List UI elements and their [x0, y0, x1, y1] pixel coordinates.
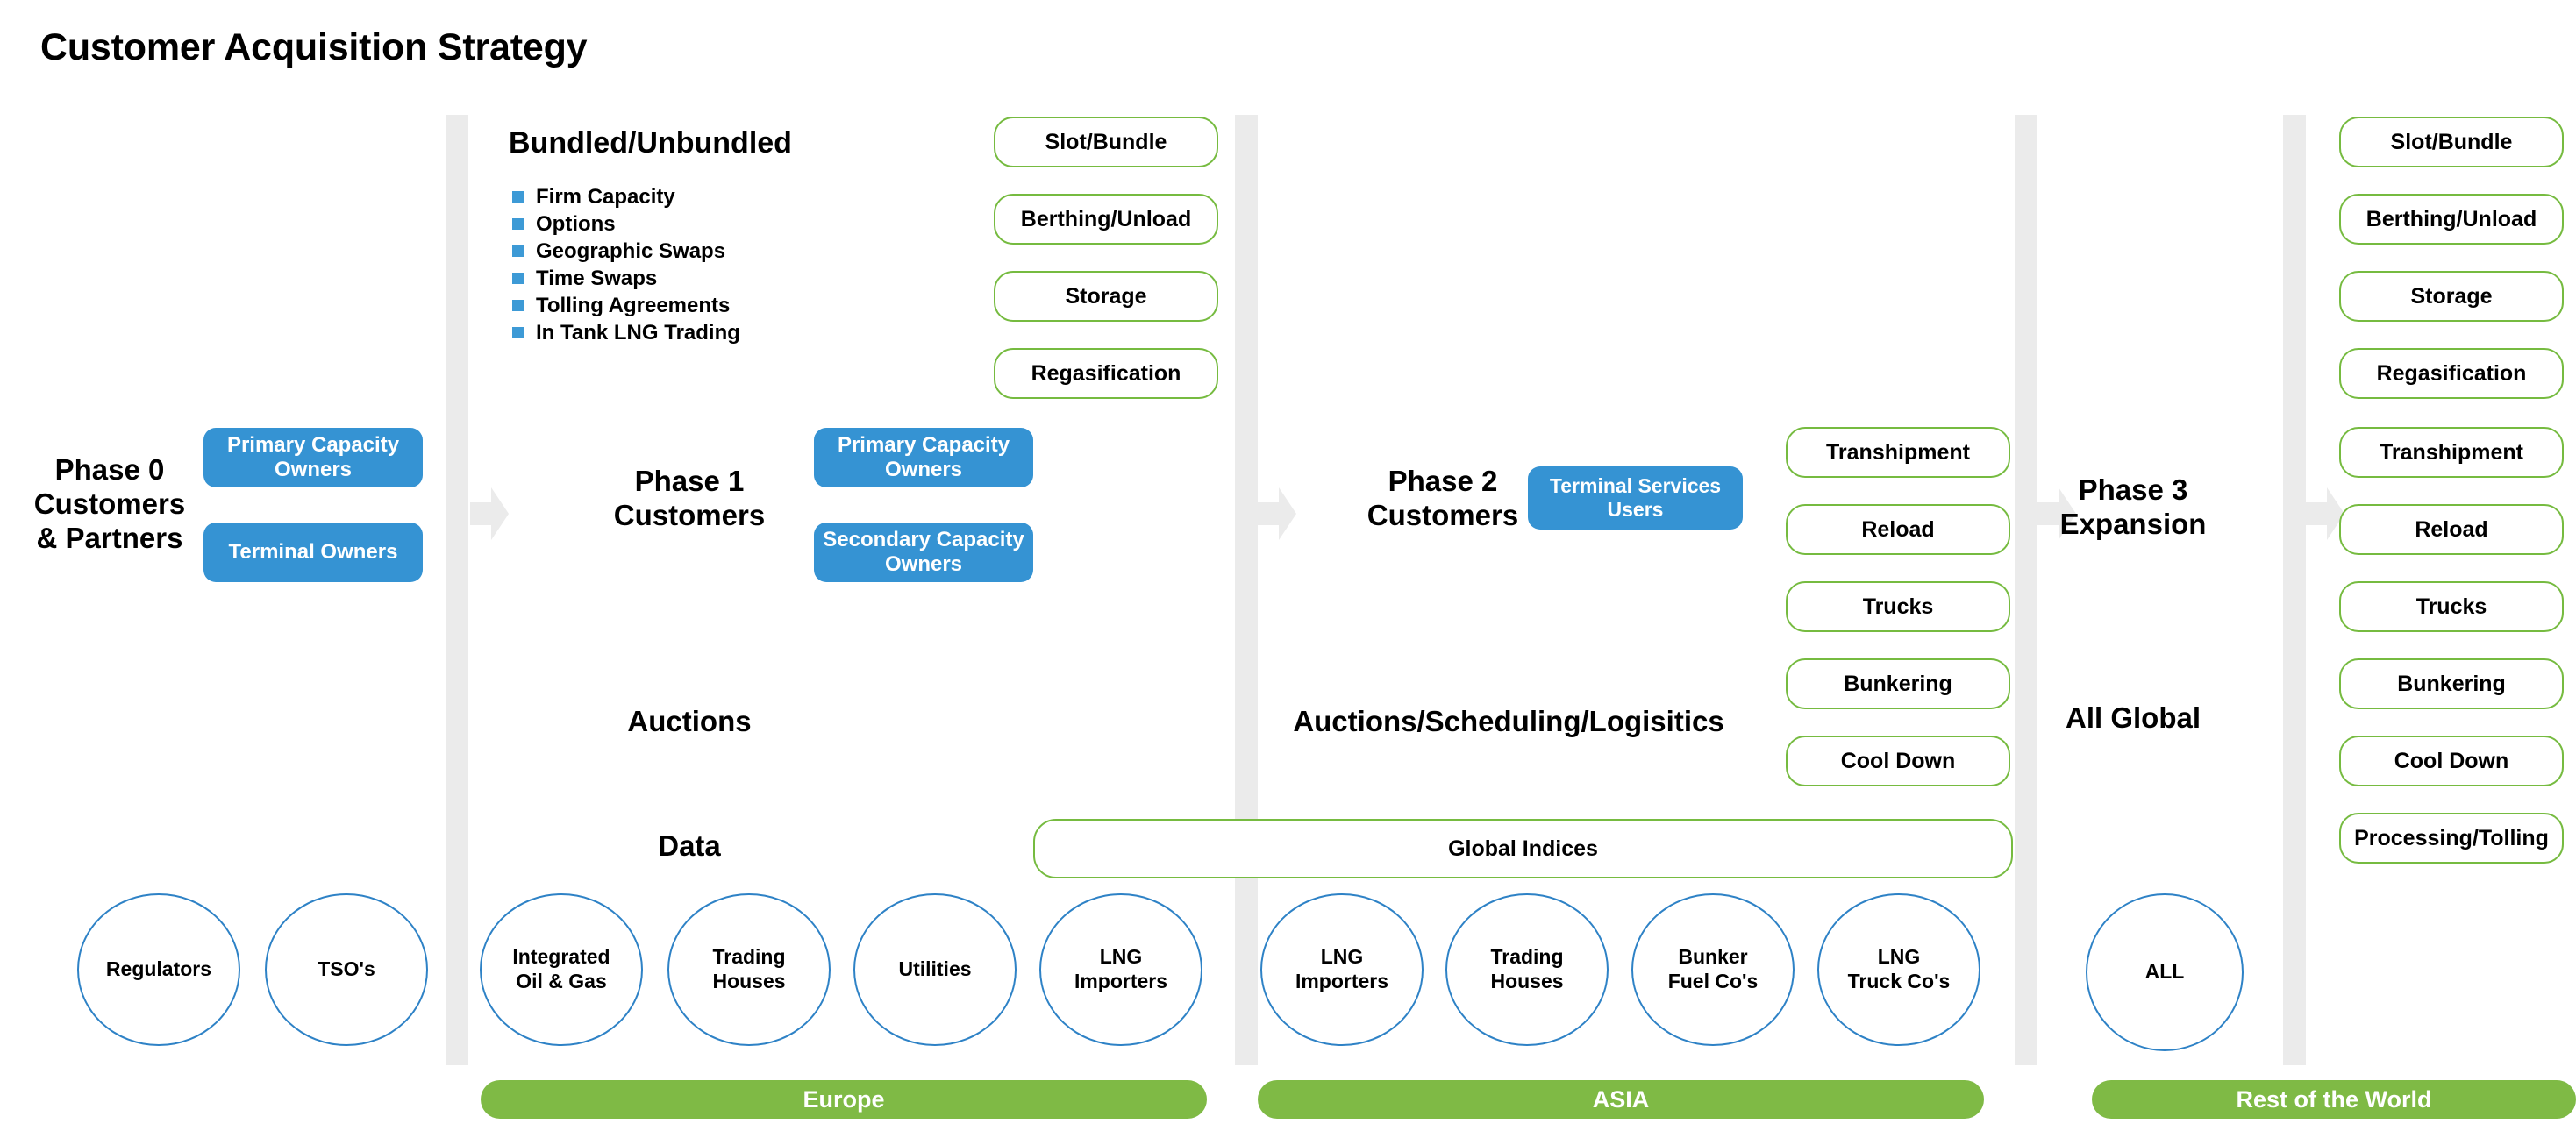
customer-box-secondary-capacity-owners[interactable]: Secondary Capacity Owners [814, 523, 1033, 582]
service-pill-cool-down[interactable]: Cool Down [1786, 736, 2010, 786]
service-pill-regasification[interactable]: Regasification [994, 348, 1218, 399]
service-pill-storage[interactable]: Storage [994, 271, 1218, 322]
process-label-all-global: All Global [2009, 701, 2258, 735]
customer-circle-regulators[interactable]: Regulators [77, 893, 240, 1046]
customer-circle-trading-houses-asia[interactable]: Trading Houses [1445, 893, 1609, 1046]
divider-phase0-phase1 [446, 115, 468, 1065]
service-pill-berthing-unload[interactable]: Berthing/Unload [994, 194, 1218, 245]
service-pill-bunkering[interactable]: Bunkering [1786, 658, 2010, 709]
global-service-pill-berthing-unload[interactable]: Berthing/Unload [2339, 194, 2564, 245]
customer-circle-trading-houses-eu[interactable]: Trading Houses [667, 893, 831, 1046]
region-banner-rest-of-the-world: Rest of the World [2092, 1080, 2576, 1119]
customer-box-primary-capacity-owners[interactable]: Primary Capacity Owners [203, 428, 423, 487]
page-title: Customer Acquisition Strategy [40, 26, 587, 69]
process-label-auctions-scheduling-logistics: Auctions/Scheduling/Logisitics [1274, 705, 1744, 738]
bullet-square-icon [512, 191, 524, 203]
customer-circle-lng-truck-cos[interactable]: LNG Truck Co's [1817, 893, 1980, 1046]
service-pill-slot-bundle[interactable]: Slot/Bundle [994, 117, 1218, 167]
service-pill-transhipment[interactable]: Transhipment [1786, 427, 2010, 478]
customer-box-terminal-owners[interactable]: Terminal Owners [203, 523, 423, 582]
list-item-label: Tolling Agreements [536, 294, 730, 318]
global-service-pill-transhipment[interactable]: Transhipment [2339, 427, 2564, 478]
bullet-square-icon [512, 245, 524, 257]
list-item: Geographic Swaps [512, 240, 740, 262]
list-item: Time Swaps [512, 267, 740, 289]
region-banner-asia: ASIA [1258, 1080, 1984, 1119]
phase-label-phase1: Phase 1 Customers [589, 465, 789, 533]
global-service-pill-processing-tolling[interactable]: Processing/Tolling [2339, 813, 2564, 864]
bundled-unbundled-list: Firm Capacity Options Geographic Swaps T… [512, 186, 740, 349]
global-service-pill-reload[interactable]: Reload [2339, 504, 2564, 555]
phase-label-phase2: Phase 2 Customers [1343, 465, 1543, 533]
bullet-square-icon [512, 218, 524, 230]
service-pill-trucks[interactable]: Trucks [1786, 581, 2010, 632]
bullet-square-icon [512, 300, 524, 311]
process-label-data: Data [589, 829, 789, 863]
list-item: Firm Capacity [512, 186, 740, 208]
phase-label-phase0: Phase 0 Customers & Partners [18, 453, 202, 556]
customer-circle-lng-importers-asia[interactable]: LNG Importers [1260, 893, 1424, 1046]
arrow-phase1-to-phase2 [1258, 487, 1296, 540]
region-banner-europe: Europe [481, 1080, 1207, 1119]
bullet-square-icon [512, 327, 524, 338]
global-service-pill-cool-down[interactable]: Cool Down [2339, 736, 2564, 786]
list-item-label: Time Swaps [536, 267, 657, 291]
customer-circle-all[interactable]: ALL [2086, 893, 2244, 1051]
global-service-pill-bunkering[interactable]: Bunkering [2339, 658, 2564, 709]
list-item-label: In Tank LNG Trading [536, 321, 740, 345]
list-item: In Tank LNG Trading [512, 322, 740, 344]
global-service-pill-trucks[interactable]: Trucks [2339, 581, 2564, 632]
list-item-label: Options [536, 212, 616, 237]
bundled-unbundled-title: Bundled/Unbundled [509, 126, 792, 160]
global-service-pill-storage[interactable]: Storage [2339, 271, 2564, 322]
customer-circle-lng-importers-eu[interactable]: LNG Importers [1039, 893, 1202, 1046]
phase-label-phase3: Phase 3 Expansion [2009, 473, 2258, 542]
customer-box-terminal-services-users[interactable]: Terminal Services Users [1528, 466, 1743, 530]
global-service-pill-slot-bundle[interactable]: Slot/Bundle [2339, 117, 2564, 167]
service-pill-reload[interactable]: Reload [1786, 504, 2010, 555]
list-item: Tolling Agreements [512, 295, 740, 316]
global-service-pill-regasification[interactable]: Regasification [2339, 348, 2564, 399]
customer-circle-utilities[interactable]: Utilities [853, 893, 1017, 1046]
customer-box-primary-capacity-owners-p1[interactable]: Primary Capacity Owners [814, 428, 1033, 487]
arrow-phase0-to-phase1 [470, 487, 509, 540]
customer-circle-tsos[interactable]: TSO's [265, 893, 428, 1046]
process-label-auctions-phase1: Auctions [589, 705, 789, 738]
slide-canvas: Customer Acquisition Strategy Bundled/Un… [0, 0, 2576, 1145]
global-indices-bar[interactable]: Global Indices [1033, 819, 2013, 878]
divider-phase2-phase3 [2015, 115, 2037, 1065]
list-item-label: Firm Capacity [536, 185, 675, 210]
customer-circle-integrated-oil-gas[interactable]: Integrated Oil & Gas [480, 893, 643, 1046]
list-item-label: Geographic Swaps [536, 239, 725, 264]
divider-phase1-phase2 [1235, 115, 1258, 1065]
bullet-square-icon [512, 273, 524, 284]
divider-phase3-services [2283, 115, 2306, 1065]
list-item: Options [512, 213, 740, 235]
customer-circle-bunker-fuel-cos[interactable]: Bunker Fuel Co's [1631, 893, 1795, 1046]
